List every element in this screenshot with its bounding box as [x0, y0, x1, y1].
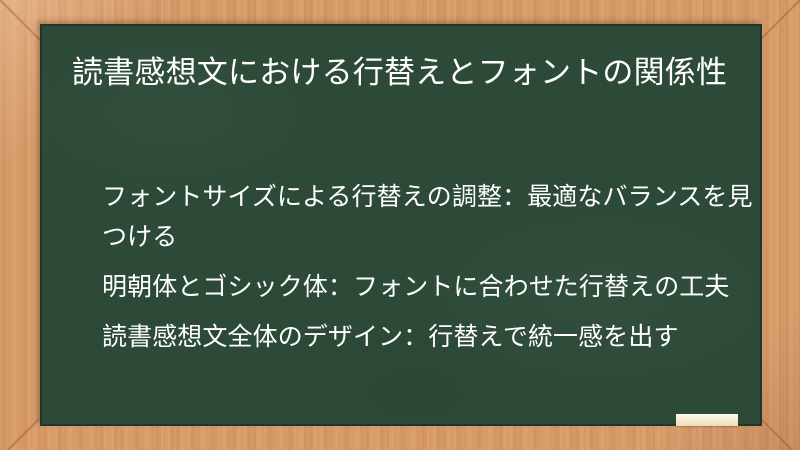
- slide-title: 読書感想文における行替えとフォントの関係性: [72, 51, 732, 95]
- bullet-list: フォントサイズによる行替えの調整：最適なバランスを見つける 明朝体とゴシック体：…: [102, 177, 774, 357]
- bullet-item-3: 読書感想文全体のデザイン：行替えで統一感を出す: [102, 317, 774, 357]
- bullet-item-2: 明朝体とゴシック体：フォントに合わせた行替えの工夫: [102, 267, 774, 307]
- frame-mitre-top-right: [757, 0, 800, 43]
- blackboard-surface: 読書感想文における行替えとフォントの関係性 フォントサイズによる行替えの調整：最…: [40, 24, 762, 426]
- chalk-stick: [676, 414, 738, 426]
- bullet-item-1: フォントサイズによる行替えの調整：最適なバランスを見つける: [102, 177, 774, 257]
- blackboard-slide: 読書感想文における行替えとフォントの関係性 フォントサイズによる行替えの調整：最…: [0, 0, 800, 450]
- frame-mitre-bottom-right: [760, 418, 800, 450]
- frame-mitre-bottom-left: [0, 418, 40, 450]
- frame-mitre-top-left: [0, 0, 43, 43]
- blackboard-content: 読書感想文における行替えとフォントの関係性 フォントサイズによる行替えの調整：最…: [40, 24, 762, 426]
